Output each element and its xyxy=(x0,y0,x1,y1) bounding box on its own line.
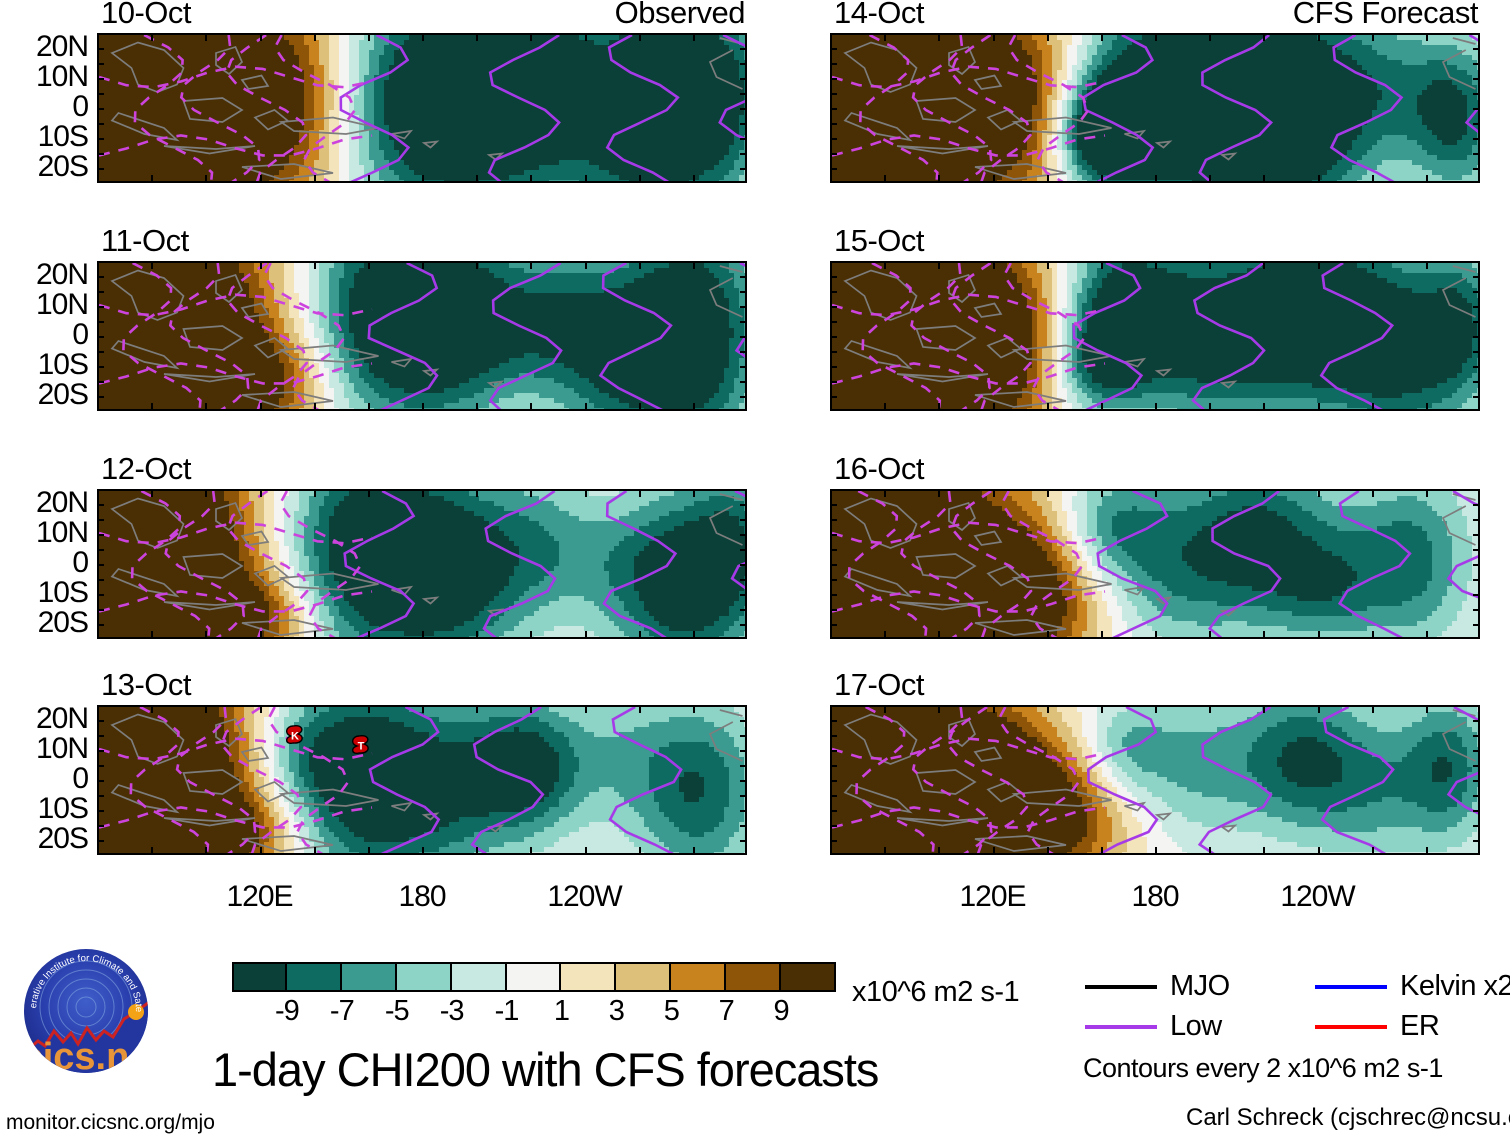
axis-tick-y xyxy=(740,780,747,782)
axis-tick-y xyxy=(740,594,747,596)
axis-tick-y xyxy=(1473,504,1480,506)
axis-tick-x xyxy=(993,175,995,183)
axis-tick-x xyxy=(884,847,886,855)
axis-tick-x xyxy=(422,33,424,41)
colorbar-units-label: x10^6 m2 s-1 xyxy=(852,978,1019,1007)
axis-tick-y xyxy=(1473,549,1480,551)
axis-tick-x xyxy=(1372,33,1374,41)
axis-tick-y xyxy=(1473,168,1480,170)
axis-tick-y xyxy=(1473,366,1480,368)
panel-plot-area xyxy=(97,33,747,183)
axis-tick-x xyxy=(884,33,886,41)
axis-tick-x xyxy=(1101,175,1103,183)
axis-tick-y xyxy=(97,504,104,506)
panel-date-label: 16-Oct xyxy=(834,453,924,484)
axis-tick-x xyxy=(205,403,207,411)
axis-tick-y xyxy=(97,366,104,368)
axis-tick-y xyxy=(830,624,837,626)
axis-tick-x xyxy=(422,175,424,183)
colorbar-tick-label: 7 xyxy=(696,997,756,1026)
axis-tick-x xyxy=(422,705,424,713)
axis-tick-y xyxy=(830,291,837,293)
axis-tick-x xyxy=(884,261,886,269)
axis-tick-x xyxy=(368,175,370,183)
axis-tick-x xyxy=(993,261,995,269)
axis-tick-y xyxy=(97,579,104,581)
y-tick-label: 0 xyxy=(2,320,88,350)
axis-tick-y xyxy=(1473,48,1480,50)
panel-plot-area xyxy=(830,489,1480,639)
panel-plot-area xyxy=(830,705,1480,855)
panel-date-label: 13-Oct xyxy=(101,669,191,700)
axis-tick-y xyxy=(830,336,837,338)
axis-tick-x xyxy=(639,403,641,411)
axis-tick-x xyxy=(1318,489,1320,497)
axis-tick-y xyxy=(97,396,104,398)
axis-tick-x xyxy=(993,847,995,855)
y-tick-label: 10S xyxy=(2,578,88,608)
axis-tick-y xyxy=(740,93,747,95)
axis-tick-x xyxy=(476,705,478,713)
axis-tick-x xyxy=(205,261,207,269)
panel-plot-area xyxy=(97,261,747,411)
axis-tick-x xyxy=(260,631,262,639)
axis-tick-x xyxy=(368,631,370,639)
axis-tick-x xyxy=(693,705,695,713)
logo-wordmark: cics.nc xyxy=(22,1036,151,1077)
axis-tick-x xyxy=(639,175,641,183)
axis-tick-x xyxy=(151,489,153,497)
legend-item-low: Low xyxy=(1085,1012,1222,1041)
axis-tick-y xyxy=(740,534,747,536)
axis-tick-x xyxy=(476,631,478,639)
axis-tick-x xyxy=(314,261,316,269)
colorbar-tick-label: 9 xyxy=(751,997,811,1026)
axis-tick-y xyxy=(1473,108,1480,110)
axis-tick-x xyxy=(1155,403,1157,411)
y-tick-label: 0 xyxy=(2,764,88,794)
axis-tick-x xyxy=(1426,175,1428,183)
axis-tick-y xyxy=(830,504,837,506)
axis-tick-y xyxy=(740,351,747,353)
axis-tick-x xyxy=(368,489,370,497)
axis-tick-x xyxy=(1047,175,1049,183)
panel-date-label: 11-Oct xyxy=(101,225,189,256)
axis-tick-y xyxy=(97,108,104,110)
axis-tick-x xyxy=(260,489,262,497)
axis-tick-x xyxy=(585,631,587,639)
axis-tick-x xyxy=(1263,489,1265,497)
axis-tick-x xyxy=(693,175,695,183)
axis-tick-y xyxy=(830,321,837,323)
axis-tick-y xyxy=(740,549,747,551)
axis-tick-x xyxy=(938,261,940,269)
axis-tick-x xyxy=(1209,175,1211,183)
axis-tick-y xyxy=(1473,306,1480,308)
axis-tick-x xyxy=(368,705,370,713)
axis-tick-x xyxy=(205,705,207,713)
axis-tick-x xyxy=(993,631,995,639)
axis-tick-x xyxy=(1209,403,1211,411)
axis-tick-x xyxy=(993,489,995,497)
axis-tick-x xyxy=(1155,847,1157,855)
axis-tick-y xyxy=(97,93,104,95)
axis-tick-x xyxy=(1426,261,1428,269)
axis-tick-y xyxy=(740,63,747,65)
axis-tick-y xyxy=(740,168,747,170)
axis-tick-x xyxy=(1263,705,1265,713)
axis-tick-x xyxy=(530,847,532,855)
axis-tick-x xyxy=(938,705,940,713)
axis-tick-y xyxy=(740,579,747,581)
axis-tick-x xyxy=(938,33,940,41)
legend-line-swatch xyxy=(1315,1025,1387,1029)
axis-tick-x xyxy=(938,175,940,183)
axis-tick-y xyxy=(1473,624,1480,626)
axis-tick-x xyxy=(1426,847,1428,855)
axis-tick-x xyxy=(993,403,995,411)
axis-tick-x xyxy=(884,175,886,183)
axis-tick-x xyxy=(1209,33,1211,41)
axis-tick-x xyxy=(151,705,153,713)
axis-tick-x xyxy=(693,631,695,639)
axis-tick-x xyxy=(693,33,695,41)
axis-tick-x xyxy=(530,705,532,713)
axis-tick-y xyxy=(740,564,747,566)
axis-tick-x xyxy=(1426,489,1428,497)
y-tick-label: 20S xyxy=(2,152,88,182)
axis-tick-y xyxy=(1473,810,1480,812)
panel-plot-area xyxy=(830,261,1480,411)
axis-tick-y xyxy=(97,534,104,536)
axis-tick-x xyxy=(260,175,262,183)
axis-tick-x xyxy=(530,489,532,497)
axis-tick-y xyxy=(97,123,104,125)
axis-tick-x xyxy=(585,847,587,855)
axis-tick-x xyxy=(585,33,587,41)
axis-tick-x xyxy=(1318,705,1320,713)
colorbar-tick-label: 1 xyxy=(531,997,591,1026)
x-tick-label: 120E xyxy=(913,882,1073,912)
y-tick-label: 20N xyxy=(2,488,88,518)
axis-tick-x xyxy=(151,175,153,183)
map-panel-14-oct: 14-OctCFS Forecast xyxy=(830,33,1480,183)
axis-tick-x xyxy=(693,847,695,855)
axis-tick-y xyxy=(740,336,747,338)
axis-tick-x xyxy=(476,847,478,855)
axis-tick-x xyxy=(260,33,262,41)
axis-tick-x xyxy=(314,489,316,497)
axis-tick-x xyxy=(1372,631,1374,639)
axis-tick-x xyxy=(422,403,424,411)
axis-tick-y xyxy=(830,750,837,752)
axis-tick-y xyxy=(97,291,104,293)
axis-tick-x xyxy=(585,261,587,269)
axis-tick-y xyxy=(1473,123,1480,125)
axis-tick-y xyxy=(830,564,837,566)
axis-tick-y xyxy=(740,624,747,626)
axis-tick-x xyxy=(1101,631,1103,639)
axis-tick-x xyxy=(530,631,532,639)
y-tick-label: 10S xyxy=(2,122,88,152)
axis-tick-x xyxy=(314,705,316,713)
axis-tick-x xyxy=(1372,705,1374,713)
axis-tick-x xyxy=(1155,33,1157,41)
axis-tick-y xyxy=(97,306,104,308)
axis-tick-y xyxy=(97,840,104,842)
axis-tick-x xyxy=(1101,261,1103,269)
axis-tick-y xyxy=(1473,351,1480,353)
y-tick-label: 10N xyxy=(2,734,88,764)
y-tick-label: 20N xyxy=(2,32,88,62)
axis-tick-x xyxy=(1047,489,1049,497)
colorbar-tick-label: 5 xyxy=(641,997,701,1026)
axis-tick-y xyxy=(1473,93,1480,95)
axis-tick-x xyxy=(1318,175,1320,183)
axis-tick-y xyxy=(97,564,104,566)
axis-tick-y xyxy=(830,810,837,812)
axis-tick-x xyxy=(476,33,478,41)
axis-tick-y xyxy=(830,366,837,368)
axis-tick-x xyxy=(1372,403,1374,411)
axis-tick-y xyxy=(1473,63,1480,65)
axis-tick-y xyxy=(740,396,747,398)
axis-tick-y xyxy=(1473,78,1480,80)
axis-tick-y xyxy=(830,276,837,278)
axis-tick-y xyxy=(97,381,104,383)
axis-tick-x xyxy=(205,175,207,183)
axis-tick-x xyxy=(260,705,262,713)
axis-tick-y xyxy=(740,825,747,827)
y-tick-label: 0 xyxy=(2,548,88,578)
axis-tick-x xyxy=(314,631,316,639)
axis-tick-x xyxy=(260,261,262,269)
axis-tick-y xyxy=(1473,594,1480,596)
y-tick-label: 10N xyxy=(2,518,88,548)
axis-tick-x xyxy=(585,705,587,713)
axis-tick-x xyxy=(1372,175,1374,183)
figure-root: 20N10N010S20S20N10N010S20S20N10N010S20S2… xyxy=(0,0,1510,1142)
axis-tick-y xyxy=(97,810,104,812)
axis-tick-y xyxy=(830,780,837,782)
y-tick-label: 20N xyxy=(2,704,88,734)
colorbar-frame xyxy=(232,962,836,992)
axis-tick-x xyxy=(1318,261,1320,269)
axis-tick-x xyxy=(1426,403,1428,411)
figure-title: 1-day CHI200 with CFS forecasts xyxy=(212,1046,878,1093)
axis-tick-x xyxy=(993,33,995,41)
axis-tick-y xyxy=(1473,138,1480,140)
axis-tick-x xyxy=(1209,631,1211,639)
y-tick-label: 20S xyxy=(2,824,88,854)
axis-tick-x xyxy=(938,489,940,497)
axis-tick-y xyxy=(97,750,104,752)
axis-tick-y xyxy=(740,735,747,737)
x-tick-label: 180 xyxy=(342,882,502,912)
axis-tick-y xyxy=(830,825,837,827)
legend-line-swatch xyxy=(1085,985,1157,989)
axis-tick-y xyxy=(740,48,747,50)
axis-tick-y xyxy=(1473,381,1480,383)
axis-tick-x xyxy=(1209,489,1211,497)
axis-tick-y xyxy=(97,624,104,626)
axis-tick-x xyxy=(938,403,940,411)
axis-tick-y xyxy=(97,63,104,65)
axis-tick-x xyxy=(884,705,886,713)
axis-tick-y xyxy=(1473,564,1480,566)
panel-date-label: 14-Oct xyxy=(834,0,924,28)
cics-nc-logo[interactable]: cics.nc Cooperative Institute for Climat… xyxy=(14,945,164,1077)
map-panel-17-oct: 17-Oct xyxy=(830,705,1480,855)
axis-tick-y xyxy=(830,93,837,95)
axis-tick-x xyxy=(314,33,316,41)
axis-tick-x xyxy=(530,175,532,183)
axis-tick-x xyxy=(639,847,641,855)
axis-tick-x xyxy=(1426,705,1428,713)
axis-tick-y xyxy=(740,306,747,308)
axis-tick-x xyxy=(368,847,370,855)
axis-tick-x xyxy=(639,489,641,497)
legend-label: Kelvin x2 xyxy=(1400,972,1510,1001)
axis-tick-x xyxy=(314,847,316,855)
legend-label: ER xyxy=(1400,1012,1439,1041)
axis-tick-x xyxy=(422,489,424,497)
axis-tick-x xyxy=(693,489,695,497)
axis-tick-y xyxy=(740,108,747,110)
axis-tick-x xyxy=(693,403,695,411)
axis-tick-y xyxy=(740,720,747,722)
axis-tick-y xyxy=(97,594,104,596)
axis-tick-y xyxy=(740,123,747,125)
axis-tick-x xyxy=(530,261,532,269)
axis-tick-y xyxy=(740,765,747,767)
map-panel-12-oct: 12-Oct xyxy=(97,489,747,639)
map-panel-11-oct: 11-Oct xyxy=(97,261,747,411)
axis-tick-y xyxy=(1473,153,1480,155)
axis-tick-x xyxy=(1318,33,1320,41)
axis-tick-x xyxy=(1209,261,1211,269)
axis-tick-x xyxy=(585,403,587,411)
axis-tick-y xyxy=(830,108,837,110)
axis-tick-x xyxy=(1047,847,1049,855)
column-title-observed: Observed xyxy=(615,0,745,28)
axis-tick-y xyxy=(830,594,837,596)
axis-tick-y xyxy=(830,78,837,80)
axis-tick-x xyxy=(1155,489,1157,497)
axis-tick-y xyxy=(830,306,837,308)
author-credit: Carl Schreck (cjschrec@ncsu.edu) xyxy=(1186,1106,1510,1130)
axis-tick-x xyxy=(1372,261,1374,269)
map-panel-10-oct: 10-OctObserved xyxy=(97,33,747,183)
axis-tick-y xyxy=(830,381,837,383)
axis-tick-y xyxy=(1473,609,1480,611)
axis-tick-y xyxy=(740,291,747,293)
axis-tick-y xyxy=(740,840,747,842)
axis-tick-y xyxy=(740,276,747,278)
axis-tick-y xyxy=(830,609,837,611)
axis-tick-y xyxy=(740,810,747,812)
axis-tick-x xyxy=(368,33,370,41)
axis-tick-y xyxy=(830,63,837,65)
axis-tick-x xyxy=(151,33,153,41)
legend-label: Low xyxy=(1170,1012,1222,1041)
axis-tick-x xyxy=(1426,631,1428,639)
axis-tick-y xyxy=(97,609,104,611)
colorbar-tick-label: -3 xyxy=(422,997,482,1026)
colorbar-tick-label: 3 xyxy=(586,997,646,1026)
panel-plot-area xyxy=(830,33,1480,183)
axis-tick-x xyxy=(1372,489,1374,497)
y-tick-label: 10N xyxy=(2,290,88,320)
axis-tick-x xyxy=(260,403,262,411)
axis-tick-y xyxy=(830,123,837,125)
axis-tick-y xyxy=(97,138,104,140)
axis-tick-y xyxy=(1473,396,1480,398)
axis-tick-x xyxy=(1155,705,1157,713)
axis-tick-x xyxy=(1155,631,1157,639)
axis-tick-y xyxy=(1473,765,1480,767)
axis-tick-y xyxy=(740,366,747,368)
axis-tick-x xyxy=(639,33,641,41)
axis-tick-y xyxy=(1473,276,1480,278)
axis-tick-y xyxy=(830,534,837,536)
y-tick-label: 20S xyxy=(2,380,88,410)
axis-tick-x xyxy=(368,403,370,411)
axis-tick-x xyxy=(205,33,207,41)
legend-line-swatch xyxy=(1085,1025,1157,1029)
axis-tick-y xyxy=(97,336,104,338)
axis-tick-y xyxy=(97,519,104,521)
y-tick-label: 10S xyxy=(2,794,88,824)
axis-tick-y xyxy=(1473,534,1480,536)
axis-tick-x xyxy=(1101,33,1103,41)
axis-tick-x xyxy=(1263,403,1265,411)
axis-tick-y xyxy=(830,168,837,170)
map-panel-13-oct: 13-Oct K T xyxy=(97,705,747,855)
axis-tick-x xyxy=(1318,847,1320,855)
axis-tick-y xyxy=(830,579,837,581)
axis-tick-y xyxy=(1473,336,1480,338)
axis-tick-x xyxy=(884,631,886,639)
axis-tick-y xyxy=(97,765,104,767)
panel-date-label: 15-Oct xyxy=(834,225,924,256)
axis-tick-y xyxy=(1473,795,1480,797)
axis-tick-x xyxy=(1101,489,1103,497)
axis-tick-x xyxy=(476,261,478,269)
axis-tick-x xyxy=(639,261,641,269)
legend-item-er: ER xyxy=(1315,1012,1439,1041)
axis-tick-y xyxy=(97,276,104,278)
axis-tick-y xyxy=(740,750,747,752)
axis-tick-x xyxy=(1047,33,1049,41)
site-url[interactable]: monitor.cicsnc.org/mjo xyxy=(6,1112,215,1133)
axis-tick-y xyxy=(97,780,104,782)
axis-tick-x xyxy=(1372,847,1374,855)
axis-tick-y xyxy=(830,549,837,551)
axis-tick-x xyxy=(639,631,641,639)
axis-tick-y xyxy=(830,765,837,767)
axis-tick-x xyxy=(1047,705,1049,713)
y-tick-label: 0 xyxy=(2,92,88,122)
axis-tick-y xyxy=(1473,579,1480,581)
axis-tick-y xyxy=(1473,840,1480,842)
axis-tick-x xyxy=(422,847,424,855)
axis-tick-y xyxy=(830,48,837,50)
axis-tick-x xyxy=(639,705,641,713)
axis-tick-y xyxy=(740,153,747,155)
axis-tick-x xyxy=(693,261,695,269)
panel-date-label: 12-Oct xyxy=(101,453,191,484)
